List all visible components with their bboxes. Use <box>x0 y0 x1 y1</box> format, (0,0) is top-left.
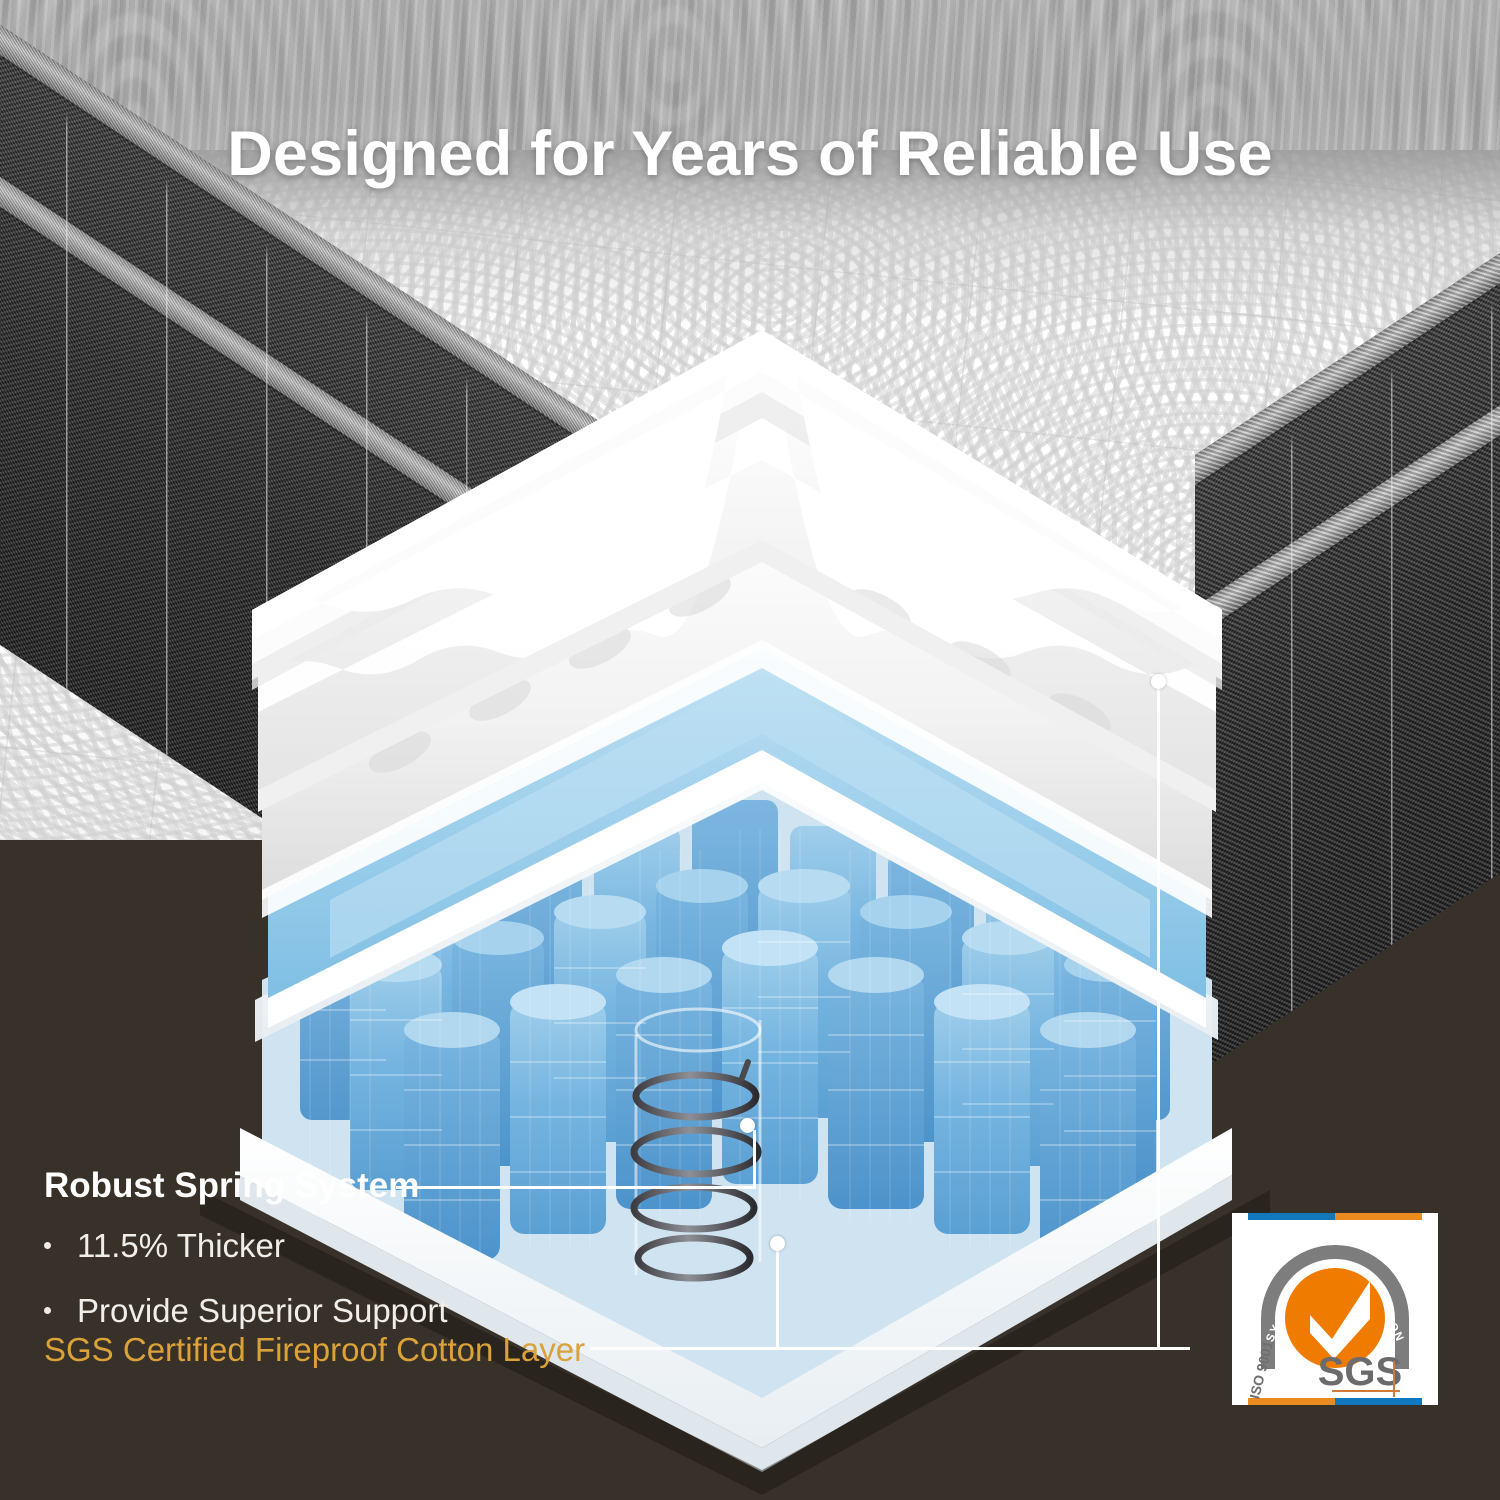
callout-fireproof-label: SGS Certified Fireproof Cotton Layer <box>44 1333 585 1366</box>
bullet-dot-icon <box>44 1242 51 1249</box>
leader-line-spring-system <box>396 1186 756 1189</box>
leader-dot-spring-system <box>740 1118 755 1133</box>
bullet-text: Provide Superior Support <box>77 1294 448 1327</box>
leader-dot-fireproof-base <box>770 1236 785 1251</box>
bullet-dot-icon <box>44 1307 51 1314</box>
leader-line-fireproof <box>590 1347 1190 1350</box>
list-item: Provide Superior Support <box>44 1294 448 1327</box>
leader-line-fireproof-riser-right <box>1157 684 1160 1349</box>
callout-spring-system-bullets: 11.5% Thicker Provide Superior Support <box>44 1229 448 1327</box>
page-title: Designed for Years of Reliable Use <box>0 118 1500 190</box>
sgs-wordmark: SGS <box>1318 1350 1402 1394</box>
leader-line-fireproof-riser-left <box>776 1248 779 1348</box>
sgs-bar-bottom <box>1248 1398 1422 1405</box>
sgs-certification-badge: SYSTEM CERTIFICATION ISO 9001 SGS <box>1232 1213 1438 1405</box>
bullet-text: 11.5% Thicker <box>77 1229 285 1262</box>
list-item: 11.5% Thicker <box>44 1229 448 1262</box>
callout-spring-system-title: Robust Spring System <box>44 1168 448 1203</box>
steel-coil-spring <box>634 1009 760 1278</box>
leader-dot-fireproof-top <box>1151 674 1166 689</box>
sgs-logo-mark: SYSTEM CERTIFICATION ISO 9001 SGS <box>1232 1219 1438 1399</box>
product-infographic: Designed for Years of Reliable Use Robus… <box>0 0 1500 1500</box>
leader-line-spring-system-riser <box>753 1130 756 1189</box>
